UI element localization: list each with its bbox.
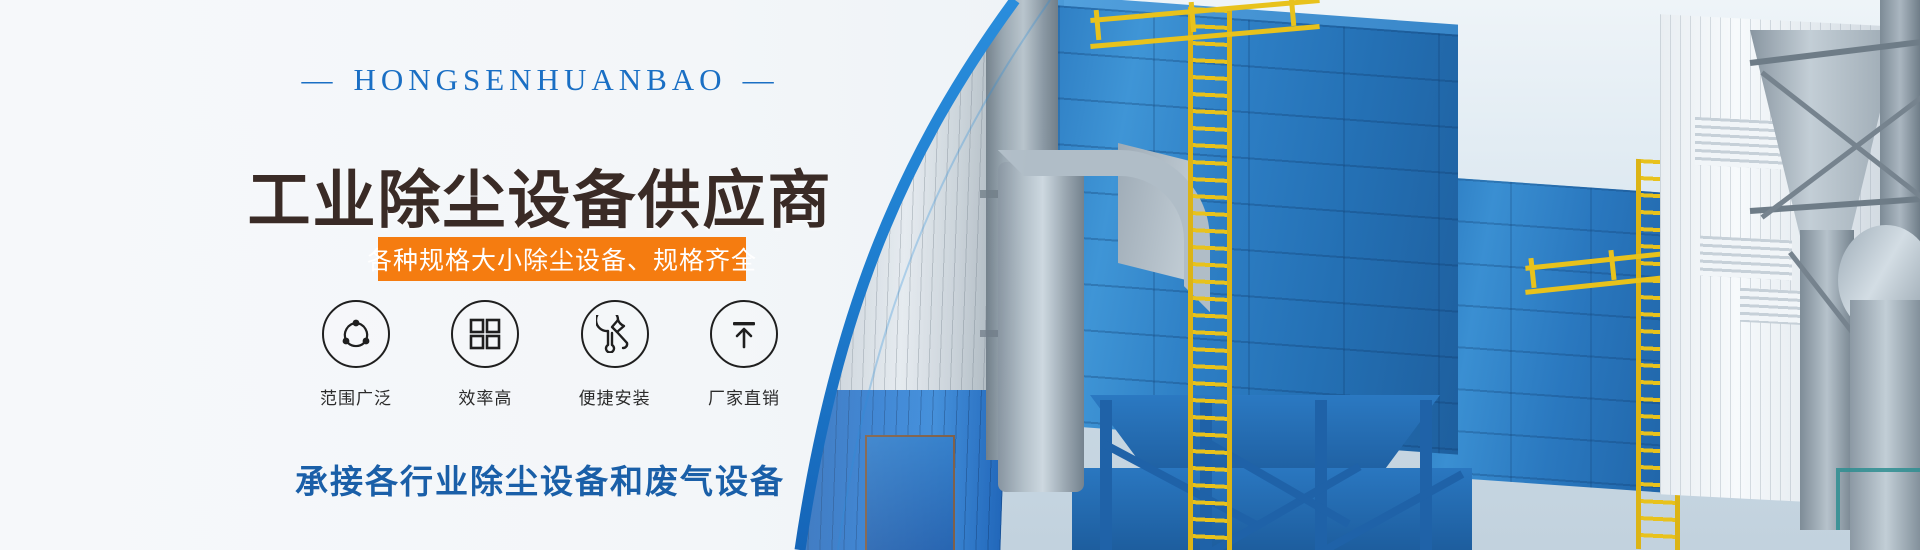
feature-label: 厂家直销 bbox=[688, 384, 800, 409]
feature-item-installation[interactable]: 便捷安装 bbox=[559, 300, 671, 409]
hero-banner: —HONGSENHUANBAO— 工业除尘设备供应商 各种规格大小除尘设备、规格… bbox=[0, 0, 1920, 550]
arrow-up-to-bar-icon bbox=[710, 300, 778, 368]
feature-item-factory-direct[interactable]: 厂家直销 bbox=[688, 300, 800, 409]
feature-list: 范围广泛 效率高 bbox=[300, 300, 800, 409]
network-share-icon bbox=[322, 300, 390, 368]
feature-item-efficiency[interactable]: 效率高 bbox=[429, 300, 541, 409]
feature-label: 效率高 bbox=[429, 384, 541, 409]
wrench-icon bbox=[581, 300, 649, 368]
grid-squares-icon bbox=[451, 300, 519, 368]
feature-item-scope[interactable]: 范围广泛 bbox=[300, 300, 412, 409]
eyebrow-text: HONGSENHUANBAO bbox=[353, 62, 726, 97]
page-title: 工业除尘设备供应商 bbox=[0, 150, 1080, 241]
feature-label: 便捷安装 bbox=[559, 384, 671, 409]
banner-tagline: 承接各行业除尘设备和废气设备 bbox=[0, 455, 1080, 503]
banner-content: —HONGSENHUANBAO— 工业除尘设备供应商 各种规格大小除尘设备、规格… bbox=[0, 0, 1100, 550]
orange-subtitle-bar: 各种规格大小除尘设备、规格齐全 bbox=[378, 237, 746, 281]
eyebrow-dash-right: — bbox=[743, 62, 779, 98]
eyebrow-dash-left: — bbox=[301, 62, 337, 98]
feature-label: 范围广泛 bbox=[300, 384, 412, 409]
orange-subtitle-text: 各种规格大小除尘设备、规格齐全 bbox=[367, 241, 757, 277]
eyebrow-line: —HONGSENHUANBAO— bbox=[0, 62, 1080, 98]
